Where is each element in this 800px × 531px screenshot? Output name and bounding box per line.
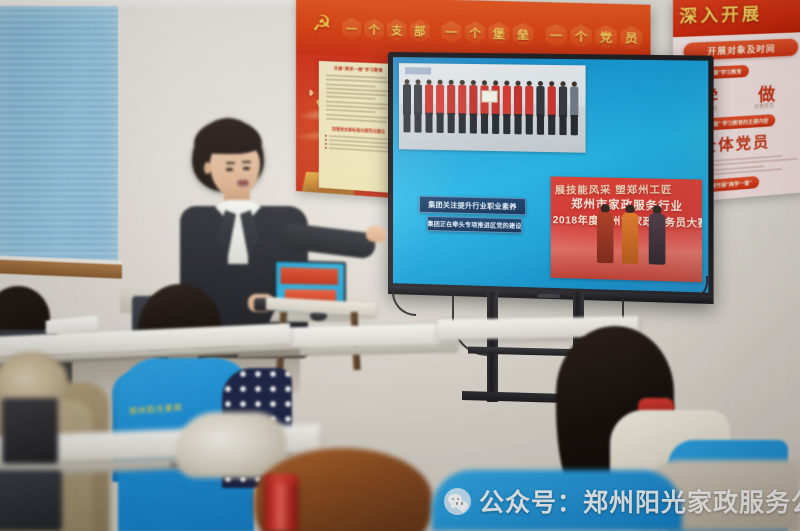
slide-bullet-1: 集团关注提升行业职业素养 — [419, 196, 526, 216]
poster-headline: 深入开展 — [679, 0, 800, 28]
slide-bullet-2: 集团正在牵头专项推进区党的建设 — [427, 216, 522, 233]
slogan-char: 个 — [465, 21, 485, 45]
slogan-char: 垒 — [512, 22, 533, 46]
slogan-char: 个 — [364, 18, 383, 41]
slogan-char: 一 — [342, 17, 361, 40]
presenter-hand-gesture — [365, 225, 387, 244]
certificate-prop — [481, 90, 497, 102]
tv-bezel: 展技能风采 塑郑州工匠 郑州市家政服务行业 2018年度郑州市家政服务员大赛 集… — [388, 52, 714, 304]
slogan-char: 一 — [441, 20, 461, 44]
slogan-char: 堡 — [488, 22, 509, 46]
presenter-ear — [204, 162, 211, 174]
laptop-slide-red-1 — [281, 267, 339, 285]
slogan-char: 员 — [620, 26, 642, 51]
slide-photo-award: 展技能风采 塑郑州工匠 郑州市家政服务行业 2018年度郑州市家政服务员大赛 — [551, 176, 702, 282]
presenter-eye — [243, 167, 250, 170]
watermark-text: 公众号：郑州阳光家政服务公司 — [479, 483, 800, 519]
presenter-brow — [242, 161, 251, 163]
slogan-char: 一 — [546, 23, 567, 47]
presenter-fringe — [194, 120, 262, 154]
party-emblem-icon: ☭ — [312, 12, 338, 37]
slide-photo-group — [399, 63, 586, 153]
presenter-mouth — [237, 180, 249, 187]
photo-people-row — [401, 77, 584, 138]
dark-monitor — [2, 398, 58, 464]
award-banner-line1: 展技能风采 塑郑州工匠 — [555, 181, 698, 197]
wechat-watermark: 公众号：郑州阳光家政服务公司 — [444, 484, 800, 518]
tv-screen[interactable]: 展技能风采 塑郑州工匠 郑州市家政服务行业 2018年度郑州市家政服务员大赛 集… — [393, 57, 708, 293]
tv-brand-logo — [537, 294, 560, 299]
presenter-eye — [226, 168, 233, 171]
dove-icon: ❥ — [308, 89, 315, 98]
slogan-char: 党 — [595, 25, 617, 49]
slogan-char: 支 — [387, 19, 407, 42]
window-blind — [0, 6, 118, 264]
poster-small-right: 合格党员 — [754, 102, 774, 110]
thermos-cap — [264, 474, 298, 484]
chair-foreground — [0, 470, 62, 531]
wechat-icon — [444, 488, 471, 515]
slogan-char: 部 — [410, 19, 430, 42]
photo-badge — [405, 67, 431, 74]
red-thermos-bottle — [264, 478, 298, 531]
photograph-frame: ☭ 一 个 支 部 一 个 堡 垒 一 个 党 员 一 面 旗 帜 — [0, 0, 800, 531]
poster-title: 开展"两学一做"学习教育 — [324, 65, 393, 74]
slogan-char: 个 — [570, 24, 592, 48]
wall-mounted-tv[interactable]: 展技能风采 塑郑州工匠 郑州市家政服务行业 2018年度郑州市家政服务员大赛 集… — [388, 52, 714, 304]
presenter-brow — [226, 162, 235, 164]
